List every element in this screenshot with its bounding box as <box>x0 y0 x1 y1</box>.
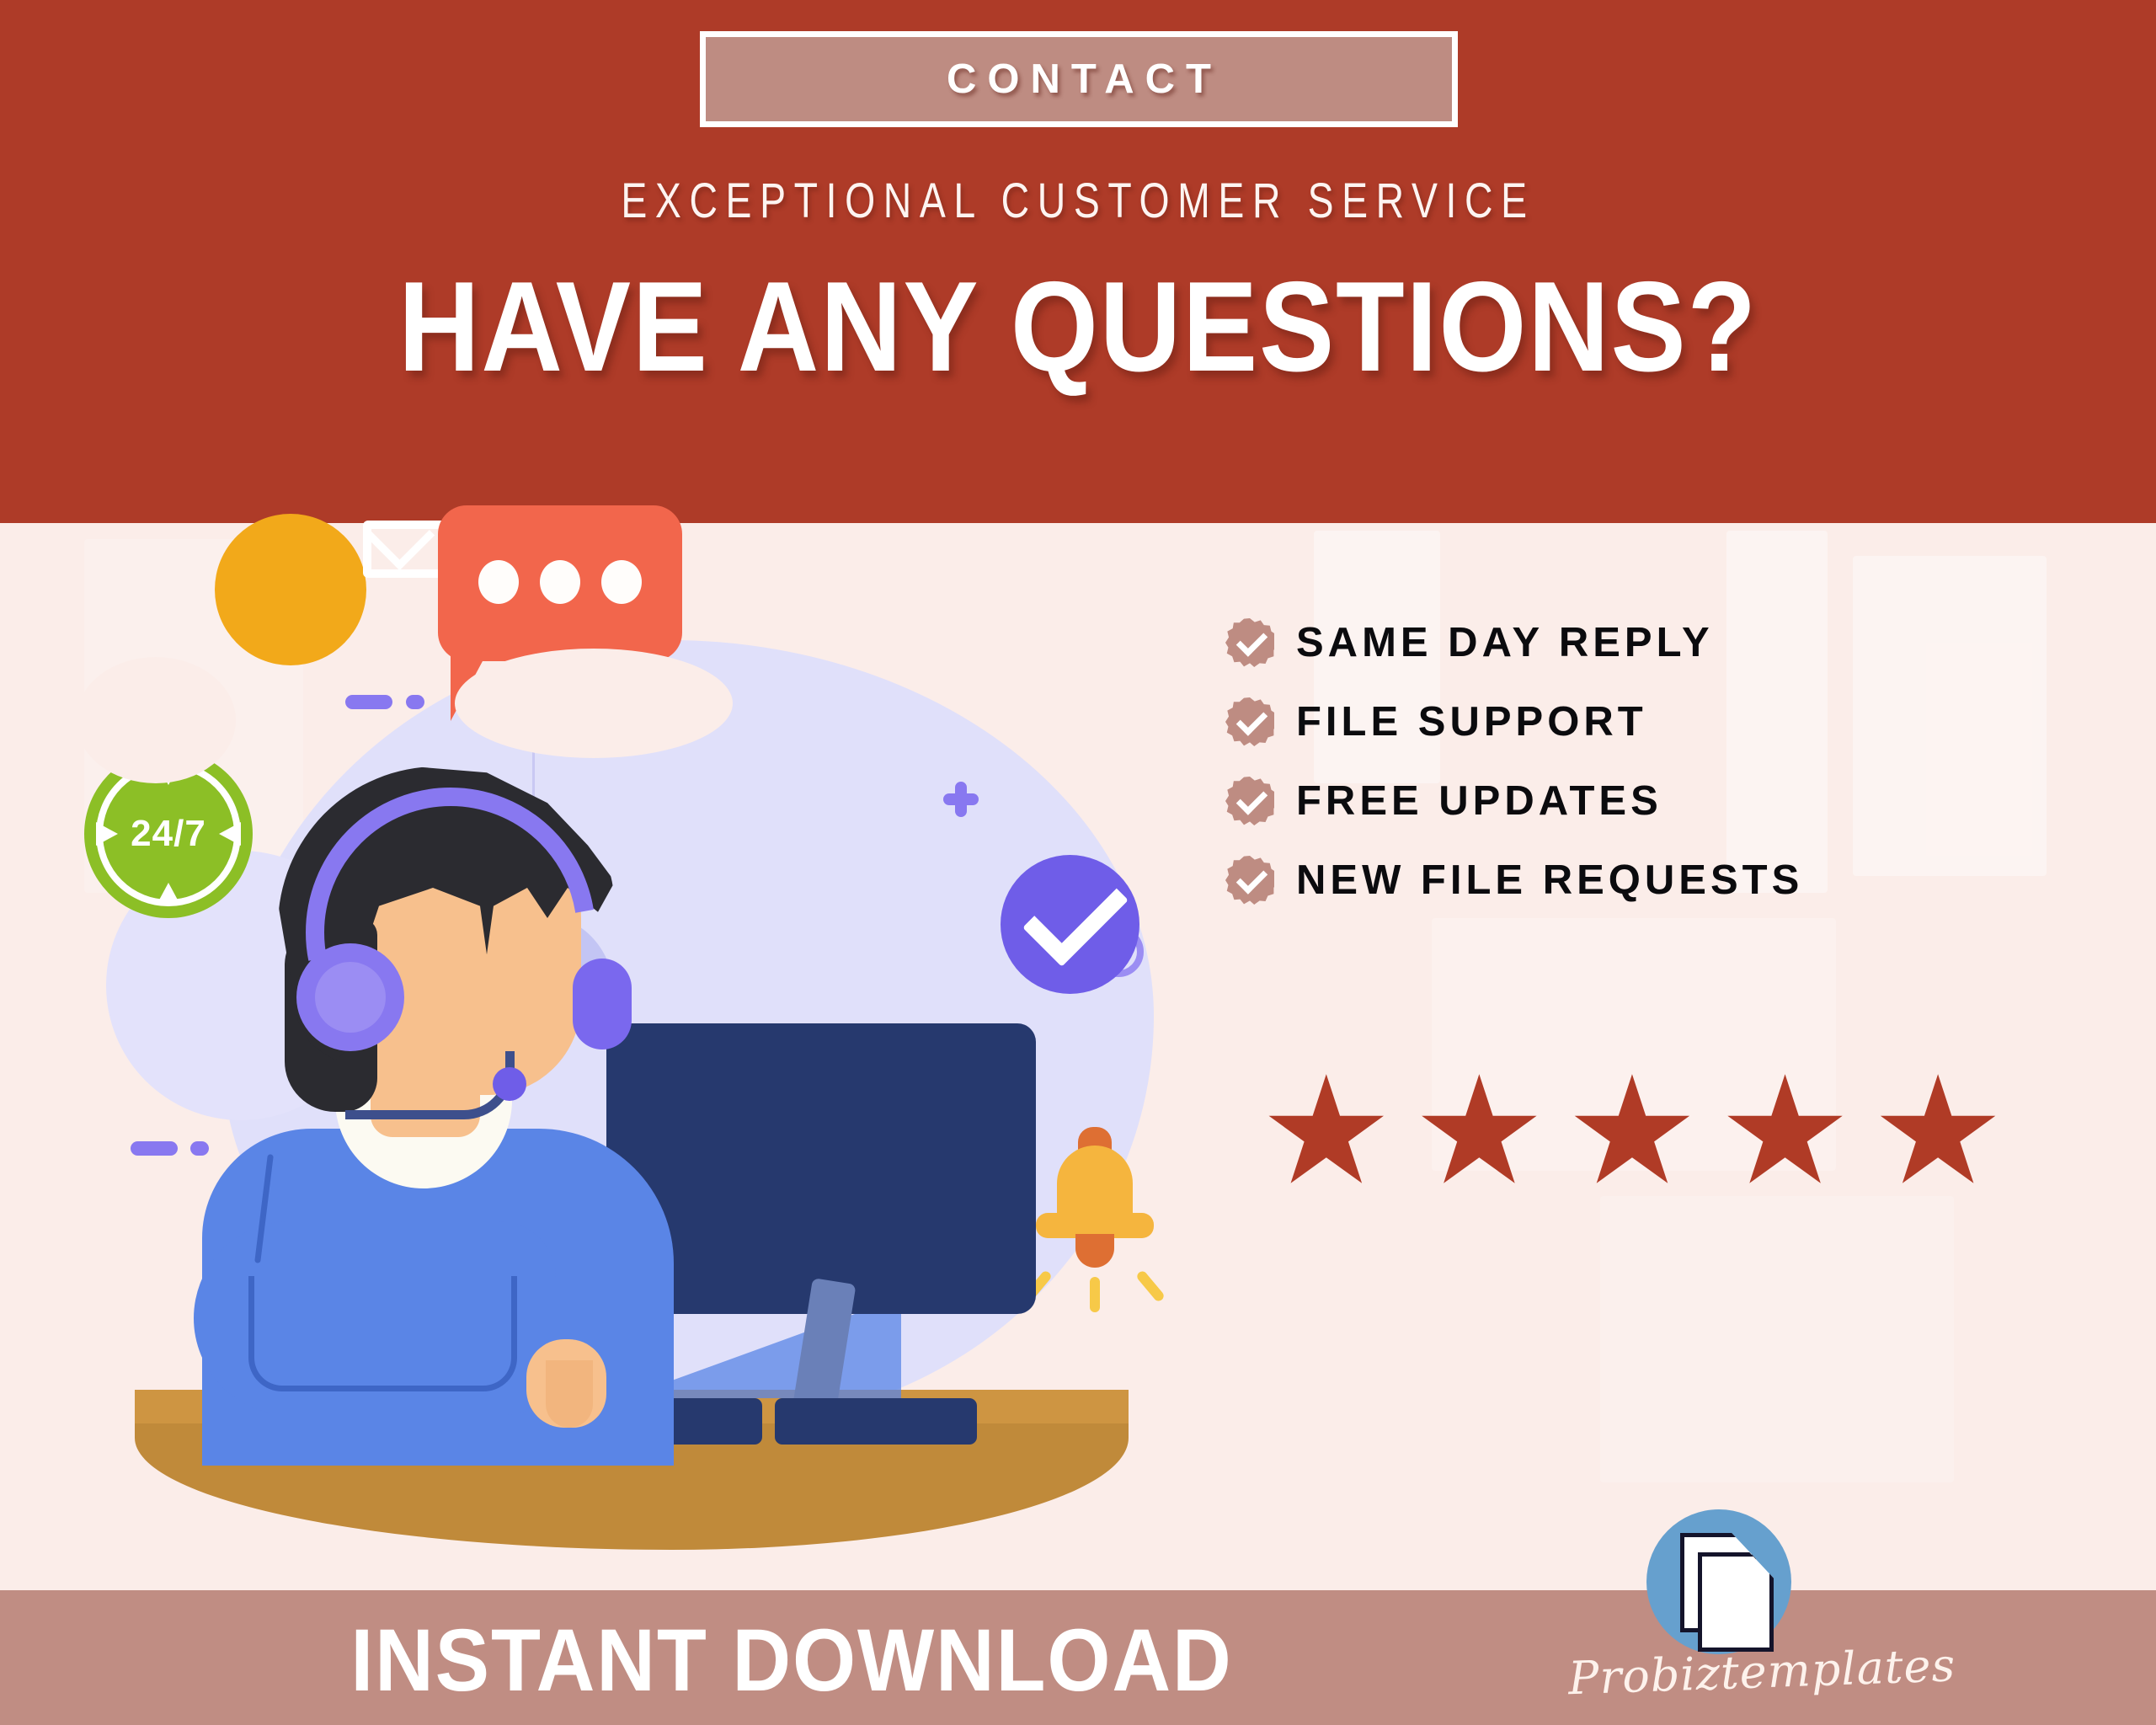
chat-dot <box>540 560 580 604</box>
bell-clapper <box>1075 1234 1114 1268</box>
star-icon: ★ <box>1259 1070 1394 1193</box>
decor-dash <box>345 695 392 709</box>
list-item: NEW FILE REQUESTS <box>1225 841 1803 920</box>
star-icon: ★ <box>1870 1070 2005 1193</box>
contact-badge-label: CONTACT <box>936 56 1222 103</box>
header-subtitle: EXCEPTIONAL CUSTOMER SERVICE <box>216 173 1940 229</box>
check-badge-icon <box>1225 618 1274 667</box>
header-banner: CONTACT EXCEPTIONAL CUSTOMER SERVICE HAV… <box>0 0 2156 523</box>
agent-fingers <box>546 1360 593 1428</box>
decor-plus-icon <box>955 782 967 817</box>
check-badge-icon <box>1225 856 1274 905</box>
decor-dash <box>190 1141 209 1156</box>
document-page-front <box>1698 1552 1774 1652</box>
agent-arm-fold <box>248 1276 517 1391</box>
check-badge-icon <box>1225 777 1274 825</box>
decor-dash <box>406 695 424 709</box>
keyboard-numpad <box>775 1398 977 1445</box>
bell-ray <box>1135 1269 1166 1303</box>
contact-badge: CONTACT <box>700 31 1458 127</box>
support-illustration: 24/7 <box>101 556 1213 1550</box>
header-headline: HAVE ANY QUESTIONS? <box>130 263 2027 391</box>
star-icon: ★ <box>1412 1070 1547 1193</box>
desk-edge-mask <box>455 649 733 758</box>
headset-mic-tip <box>493 1067 526 1101</box>
clock-tick-right <box>219 822 241 846</box>
envelope-flap <box>371 529 439 569</box>
brand-name: Probiztemplates <box>1567 1642 1872 1706</box>
chat-dot <box>601 560 642 604</box>
star-icon: ★ <box>1565 1070 1700 1193</box>
envelope-icon <box>215 514 366 665</box>
list-item: FREE UPDATES <box>1225 761 1803 841</box>
chat-dot <box>478 560 519 604</box>
check-badge-icon <box>1225 697 1274 746</box>
instant-download-label: INSTANT DOWNLOAD <box>63 1610 1520 1712</box>
headset-mic-boom <box>345 1051 515 1119</box>
star-rating: ★ ★ ★ ★ ★ <box>1259 1070 2005 1193</box>
feature-label: FREE UPDATES <box>1296 777 1662 825</box>
star-icon: ★ <box>1718 1070 1853 1193</box>
list-item: SAME DAY REPLY <box>1225 603 1803 682</box>
desk-edge-mask <box>1070 653 1246 788</box>
headset-earcup-inner <box>315 962 386 1033</box>
feature-label: NEW FILE REQUESTS <box>1296 857 1803 904</box>
list-item: FILE SUPPORT <box>1225 682 1803 761</box>
feature-label: FILE SUPPORT <box>1296 698 1647 745</box>
clock-badge-label: 24/7 <box>131 813 206 855</box>
feature-list: SAME DAY REPLY FILE SUPPORT FREE UPDATES… <box>1225 603 1803 920</box>
background-ghost-shape <box>1600 1196 1954 1482</box>
chat-bubble-icon <box>438 505 682 661</box>
desk-edge-mask <box>76 657 236 783</box>
feature-label: SAME DAY REPLY <box>1296 619 1714 666</box>
clock-tick-bottom <box>157 883 180 905</box>
headset-earcup-right <box>573 959 632 1049</box>
background-ghost-shape <box>1853 556 2047 876</box>
poster-canvas: CONTACT EXCEPTIONAL CUSTOMER SERVICE HAV… <box>0 0 2156 1725</box>
clock-tick-left <box>96 822 118 846</box>
bell-ray <box>1090 1277 1100 1312</box>
decor-dash <box>131 1141 178 1156</box>
